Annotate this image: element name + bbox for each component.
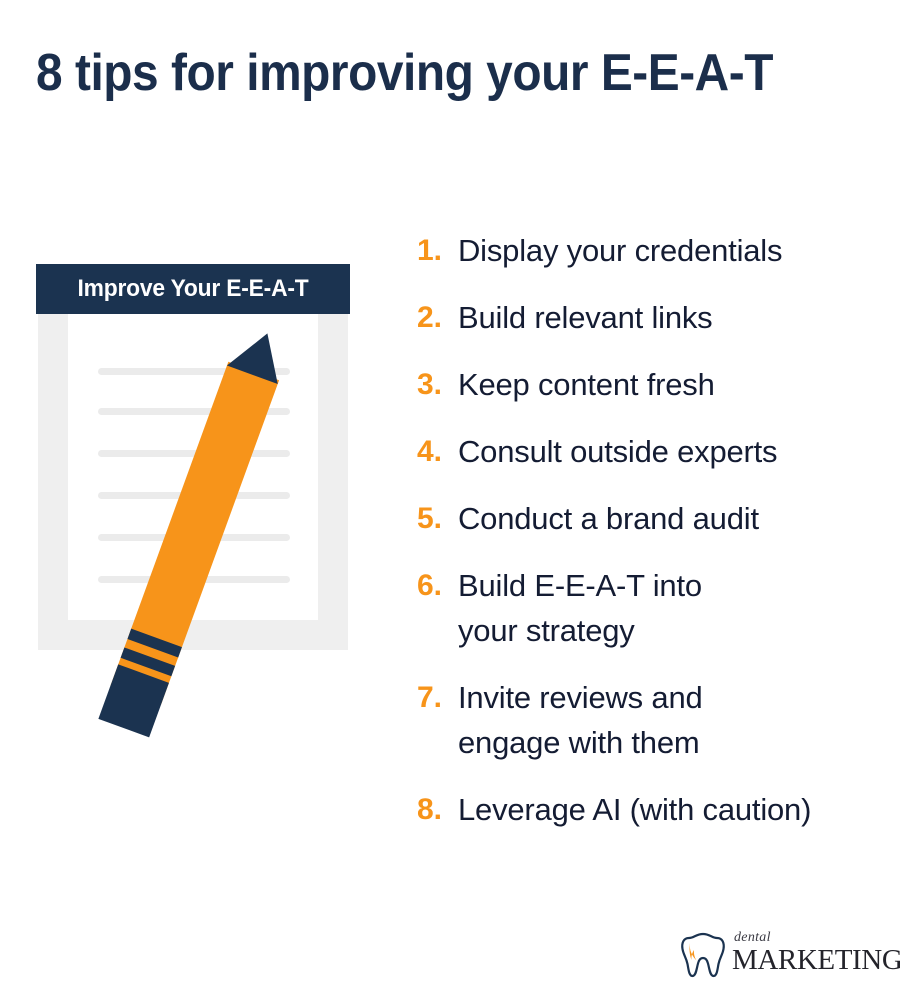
list-item-number: 4. [398,429,458,474]
list-item-text: Consult outside experts [458,429,878,474]
list-item: 4. Consult outside experts [398,429,878,474]
list-item-number: 7. [398,675,458,720]
logo-main-text: MARKETING [732,944,900,976]
list-item-number: 5. [398,496,458,541]
list-item-number: 6. [398,563,458,608]
list-item-number: 8. [398,787,458,832]
list-item: 7. Invite reviews and engage with them [398,675,878,765]
list-item-text: Display your credentials [458,228,878,273]
list-item: 1. Display your credentials [398,228,878,273]
list-item: 6. Build E-E-A-T into your strategy [398,563,878,653]
page-title: 8 tips for improving your E-E-A-T [36,42,809,104]
list-item: 2. Build relevant links [398,295,878,340]
list-item-text: Invite reviews and engage with them [458,675,878,765]
tips-list: 1. Display your credentials 2. Build rel… [398,228,878,854]
tooth-icon [680,930,726,980]
list-item-number: 2. [398,295,458,340]
list-item-text: Build relevant links [458,295,878,340]
brand-logo: dental MARKETINGBFF [680,928,880,986]
list-item-number: 1. [398,228,458,273]
clipboard-banner [36,264,350,314]
list-item-text: Build E-E-A-T into your strategy [458,563,878,653]
list-item-text: Leverage AI (with caution) [458,787,878,832]
list-item: 8. Leverage AI (with caution) [398,787,878,832]
list-item-text: Keep content fresh [458,362,878,407]
clipboard-illustration [0,165,390,805]
list-item: 5. Conduct a brand audit [398,496,878,541]
list-item-number: 3. [398,362,458,407]
logo-main-word: MARKETINGBFF [732,944,900,977]
logo-wordmark: dental MARKETINGBFF [732,928,882,982]
infographic-canvas: 8 tips for improving your E-E-A-T [0,0,900,1000]
list-item-text: Conduct a brand audit [458,496,878,541]
list-item: 3. Keep content fresh [398,362,878,407]
